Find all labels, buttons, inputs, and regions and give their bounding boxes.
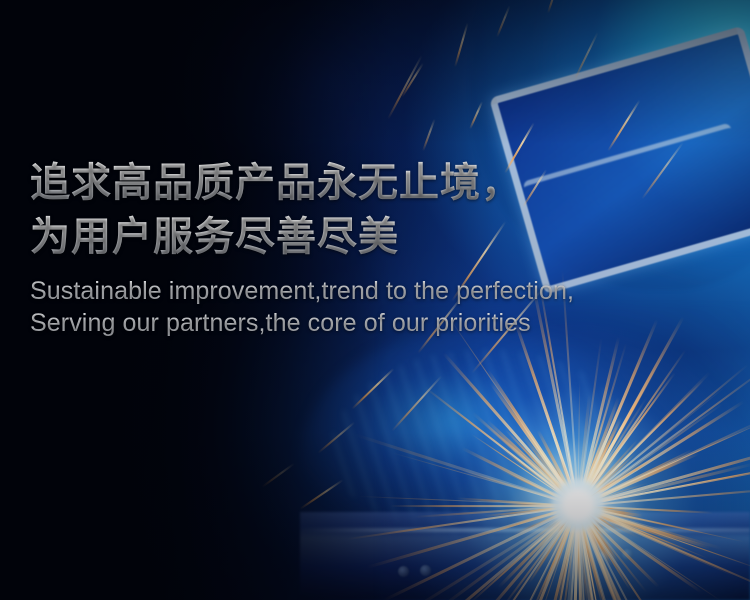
ember-streak xyxy=(391,375,442,431)
ember-streak xyxy=(496,5,511,37)
subheadline-block: Sustainable improvement,trend to the per… xyxy=(30,275,710,339)
ember-streak xyxy=(317,421,355,453)
ember-streak xyxy=(454,23,469,68)
headline-line-1: 追求高品质产品永无止境， xyxy=(30,156,710,210)
ember-streak xyxy=(547,0,558,13)
ember-streak xyxy=(387,55,423,120)
ember-streak xyxy=(607,100,640,152)
ember-streak xyxy=(351,368,394,410)
ember-streak xyxy=(261,463,295,488)
ember-streak xyxy=(469,101,483,129)
headline-line-2: 为用户服务尽善尽美 xyxy=(30,210,710,264)
subheadline-line-2: Serving our partners,the core of our pri… xyxy=(30,307,710,339)
promo-banner: 追求高品质产品永无止境， 为用户服务尽善尽美 Sustainable impro… xyxy=(0,0,750,600)
subheadline-line-1: Sustainable improvement,trend to the per… xyxy=(30,275,710,307)
banner-copy: 追求高品质产品永无止境， 为用户服务尽善尽美 Sustainable impro… xyxy=(30,156,710,339)
ember-streak xyxy=(422,119,436,152)
welding-arc-core xyxy=(552,479,604,531)
ember-streak xyxy=(574,32,599,80)
ember-streak xyxy=(299,479,343,510)
